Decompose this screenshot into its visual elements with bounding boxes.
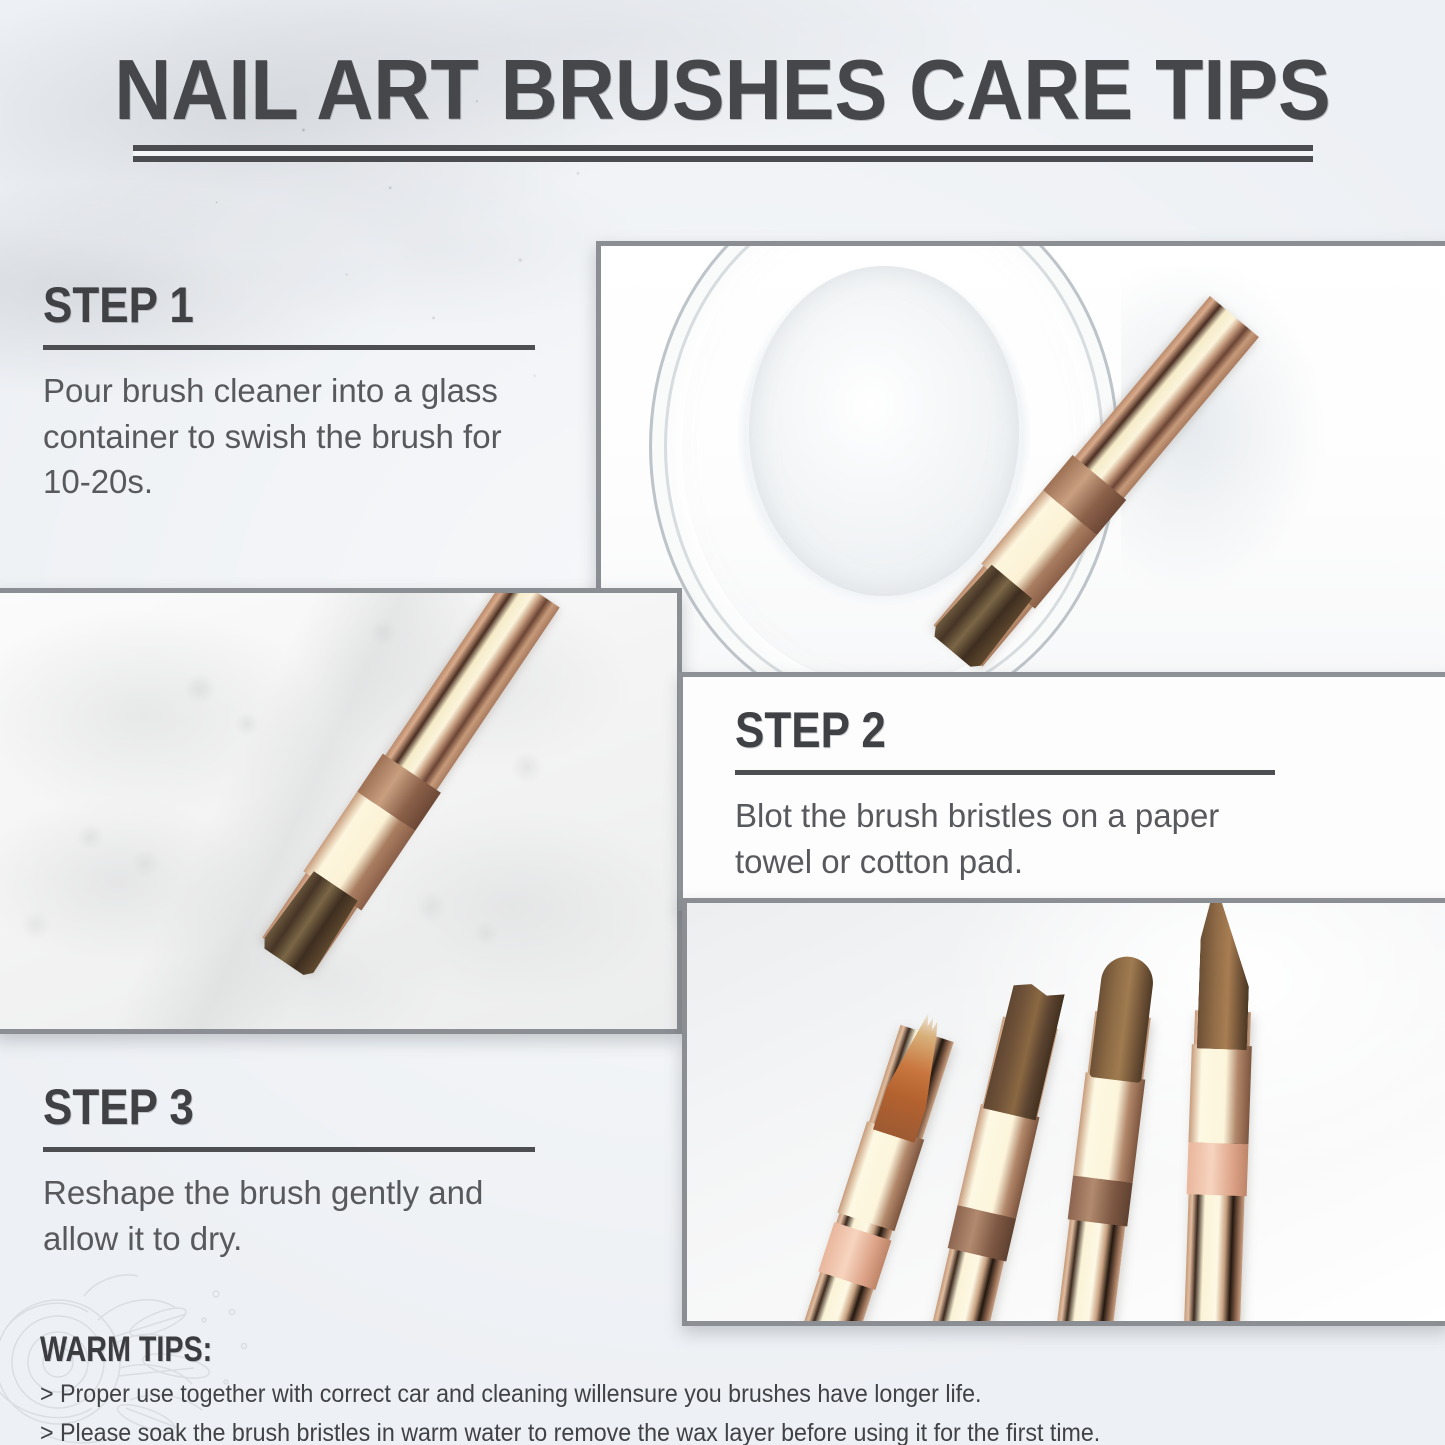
infographic-page: NAIL ART BRUSHES CARE TIPS STEP 1 Pour b… (0, 0, 1445, 1445)
brush-ferrule (1188, 1044, 1251, 1144)
step-3-block: STEP 3 Reshape the brush gently and allo… (43, 1082, 535, 1261)
bowl-liquid (749, 266, 1019, 596)
page-header: NAIL ART BRUSHES CARE TIPS (0, 48, 1445, 133)
step-3-label: STEP 3 (43, 1082, 476, 1133)
step-2-label: STEP 2 (735, 705, 1210, 756)
step-3-rule (43, 1147, 535, 1152)
step-2-rule (735, 770, 1275, 775)
brush-bristles (1197, 898, 1253, 1050)
brush-ferrule (1073, 1072, 1145, 1183)
title-double-rule (133, 145, 1313, 162)
photo-step2-paper-towel (0, 588, 682, 1034)
step-1-block: STEP 1 Pour brush cleaner into a glass c… (43, 280, 535, 505)
brush-set-icon (687, 903, 1445, 1321)
paper-towel-fold (0, 593, 677, 1029)
step-1-text: Pour brush cleaner into a glass containe… (43, 368, 535, 505)
warm-tips-item: > Proper use together with correct car a… (40, 1379, 1137, 1409)
warm-tips-heading: WARM TIPS: (40, 1330, 1008, 1370)
brush-band (1068, 1176, 1133, 1227)
glass-bowl-icon (649, 241, 1119, 683)
warm-tips-section: WARM TIPS: > Proper use together with co… (40, 1330, 1220, 1445)
liner-brush (758, 1025, 953, 1326)
brush-pink-band (1187, 1142, 1249, 1196)
brush-ferrule (958, 1104, 1040, 1219)
brush-bristles (1089, 954, 1156, 1083)
photo-step1-glass-container (596, 241, 1445, 683)
step-1-rule (43, 345, 535, 350)
page-title: NAIL ART BRUSHES CARE TIPS (51, 48, 1395, 133)
title-rule-bottom (133, 156, 1313, 162)
step-1-label: STEP 1 (43, 280, 476, 331)
photo1-highlight (1121, 266, 1445, 666)
photo-step3-brush-set (682, 898, 1445, 1326)
step-3-text: Reshape the brush gently and allow it to… (43, 1170, 535, 1261)
step-2-text: Blot the brush bristles on a paper towel… (735, 793, 1275, 884)
pointed-brush (1179, 1010, 1251, 1326)
oval-brush (1039, 1011, 1151, 1326)
warm-tips-item: > Please soak the brush bristles in warm… (40, 1418, 1137, 1445)
step-2-block: STEP 2 Blot the brush bristles on a pape… (735, 705, 1275, 884)
